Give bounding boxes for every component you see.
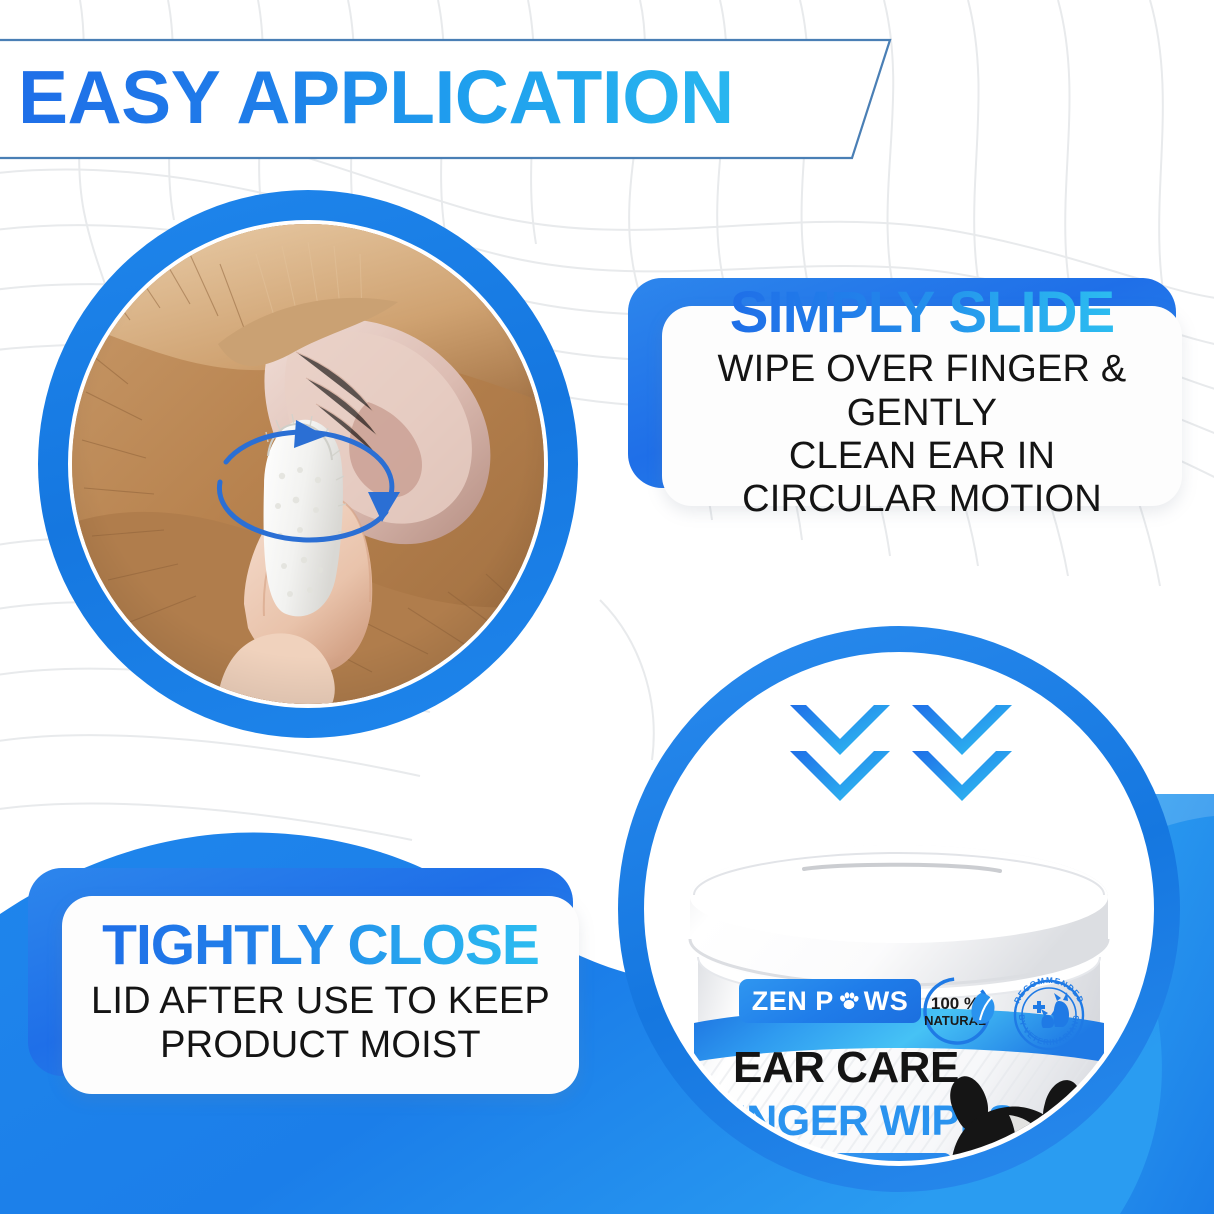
product-jar: [664, 827, 1134, 1166]
card-panel: SIMPLY SLIDE WIPE OVER FINGER & GENTLY C…: [662, 306, 1182, 506]
card-body: LID AFTER USE TO KEEP PRODUCT MOIST: [91, 980, 550, 1067]
page-title: EASY APPLICATION: [18, 60, 734, 135]
card-body-line: CLEAN EAR IN: [684, 435, 1160, 478]
product-jar-circle: ZEN P WS 100 %: [618, 626, 1180, 1192]
infographic-canvas: EASY APPLICATION: [0, 0, 1214, 1214]
card-heading: SIMPLY SLIDE: [730, 284, 1114, 342]
callout-card-simply-slide: SIMPLY SLIDE WIPE OVER FINGER & GENTLY C…: [628, 278, 1176, 488]
card-body: WIPE OVER FINGER & GENTLY CLEAN EAR IN C…: [684, 348, 1160, 521]
card-heading: TIGHTLY CLOSE: [102, 917, 539, 974]
card-body-line: CIRCULAR MOTION: [684, 478, 1160, 521]
ear-cleaning-photo-circle: [38, 190, 578, 738]
header-banner: EASY APPLICATION: [0, 38, 895, 160]
photo-clip: [68, 220, 548, 708]
card-body-line: PRODUCT MOIST: [91, 1024, 550, 1067]
callout-card-tightly-close: TIGHTLY CLOSE LID AFTER USE TO KEEP PROD…: [28, 868, 573, 1076]
product-clip: ZEN P WS 100 %: [644, 652, 1154, 1166]
card-panel: TIGHTLY CLOSE LID AFTER USE TO KEEP PROD…: [62, 896, 579, 1094]
card-body-line: WIPE OVER FINGER & GENTLY: [684, 348, 1160, 435]
double-chevron-down-icon: [784, 691, 1014, 811]
card-body-line: LID AFTER USE TO KEEP: [91, 980, 550, 1023]
dog-ear-photo: [72, 224, 544, 704]
